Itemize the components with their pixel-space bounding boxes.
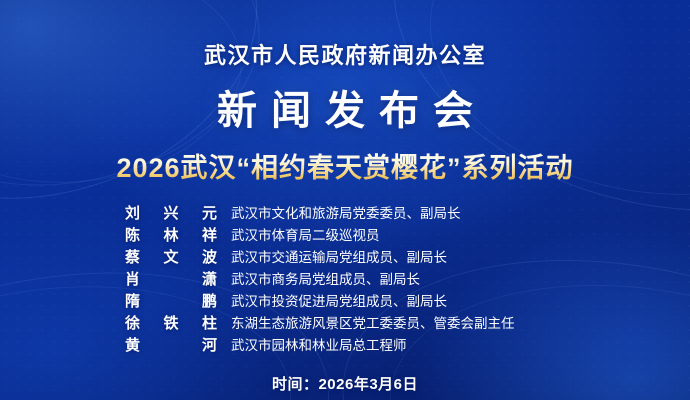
press-conference-poster: 武汉市人民政府新闻办公室 新闻发布会 2026武汉“相约春天赏樱花”系列活动 刘…: [0, 0, 690, 400]
speaker-name: 隋鹏: [125, 293, 217, 311]
list-item: 隋鹏 武汉市投资促进局党组成员、副局长: [125, 293, 565, 311]
page-title: 新闻发布会: [0, 78, 690, 136]
speaker-title: 武汉市文化和旅游局党委委员、副局长: [217, 205, 565, 223]
speaker-name: 徐铁柱: [125, 315, 217, 333]
speaker-title: 武汉市体育局二级巡视员: [217, 227, 565, 245]
speaker-title: 武汉市商务局党组成员、副局长: [217, 271, 565, 289]
speaker-list: 刘兴元 武汉市文化和旅游局党委委员、副局长 陈林祥 武汉市体育局二级巡视员 蔡文…: [125, 205, 565, 355]
speaker-name: 陈林祥: [125, 227, 217, 245]
speaker-title: 东湖生态旅游风景区党工委委员、管委会副主任: [217, 315, 565, 333]
speaker-title: 武汉市投资促进局党组成员、副局长: [217, 293, 565, 311]
organizer-label: 武汉市人民政府新闻办公室: [0, 0, 690, 70]
list-item: 蔡文波 武汉市交通运输局党组成员、副局长: [125, 249, 565, 267]
speaker-name: 刘兴元: [125, 205, 217, 223]
speaker-name: 蔡文波: [125, 249, 217, 267]
list-item: 徐铁柱 东湖生态旅游风景区党工委委员、管委会副主任: [125, 315, 565, 333]
poster-content: 武汉市人民政府新闻办公室 新闻发布会 2026武汉“相约春天赏樱花”系列活动 刘…: [0, 0, 690, 400]
list-item: 黄河 武汉市园林和林业局总工程师: [125, 337, 565, 355]
speaker-title: 武汉市园林和林业局总工程师: [217, 337, 565, 355]
event-time: 时间：2026年3月6日: [0, 373, 690, 394]
speaker-title: 武汉市交通运输局党组成员、副局长: [217, 249, 565, 267]
list-item: 陈林祥 武汉市体育局二级巡视员: [125, 227, 565, 245]
list-item: 肖潇 武汉市商务局党组成员、副局长: [125, 271, 565, 289]
poster-subtitle: 2026武汉“相约春天赏樱花”系列活动: [0, 146, 690, 185]
list-item: 刘兴元 武汉市文化和旅游局党委委员、副局长: [125, 205, 565, 223]
speaker-name: 黄河: [125, 337, 217, 355]
speaker-name: 肖潇: [125, 271, 217, 289]
